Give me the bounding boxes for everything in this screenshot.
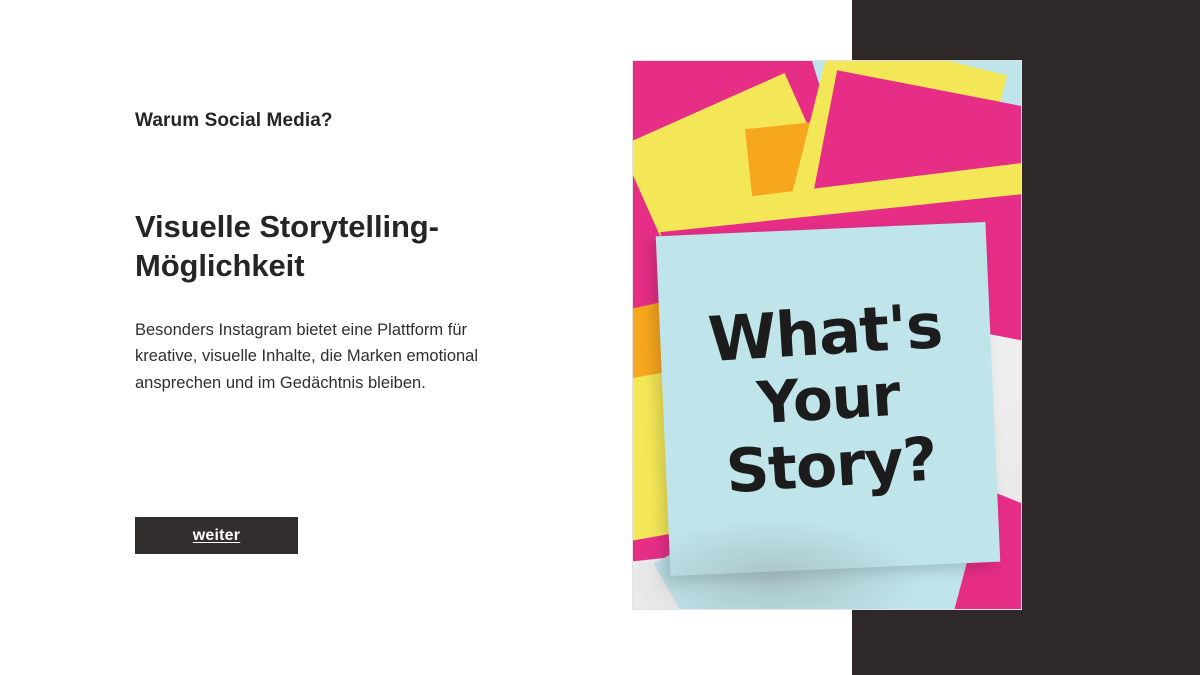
- note-text-line-3: Story?: [724, 430, 938, 503]
- sticky-notes-photo: What's Your Story?: [633, 61, 1021, 609]
- text-column: Warum Social Media? Visuelle Storytellin…: [135, 0, 535, 675]
- weiter-button-label: weiter: [193, 527, 240, 545]
- photo-frame: What's Your Story?: [632, 60, 1022, 610]
- weiter-button[interactable]: weiter: [135, 517, 298, 554]
- note-text-line-1: What's: [706, 295, 943, 371]
- slide-canvas: Warum Social Media? Visuelle Storytellin…: [0, 0, 1200, 675]
- page-title: Visuelle Storytelling-Möglichkeit: [135, 207, 515, 286]
- body-paragraph: Besonders Instagram bietet eine Plattfor…: [135, 317, 525, 397]
- eyebrow-label: Warum Social Media?: [135, 110, 333, 132]
- sticky-note-main: What's Your Story?: [656, 222, 1001, 576]
- note-text-line-2: Your: [755, 366, 901, 433]
